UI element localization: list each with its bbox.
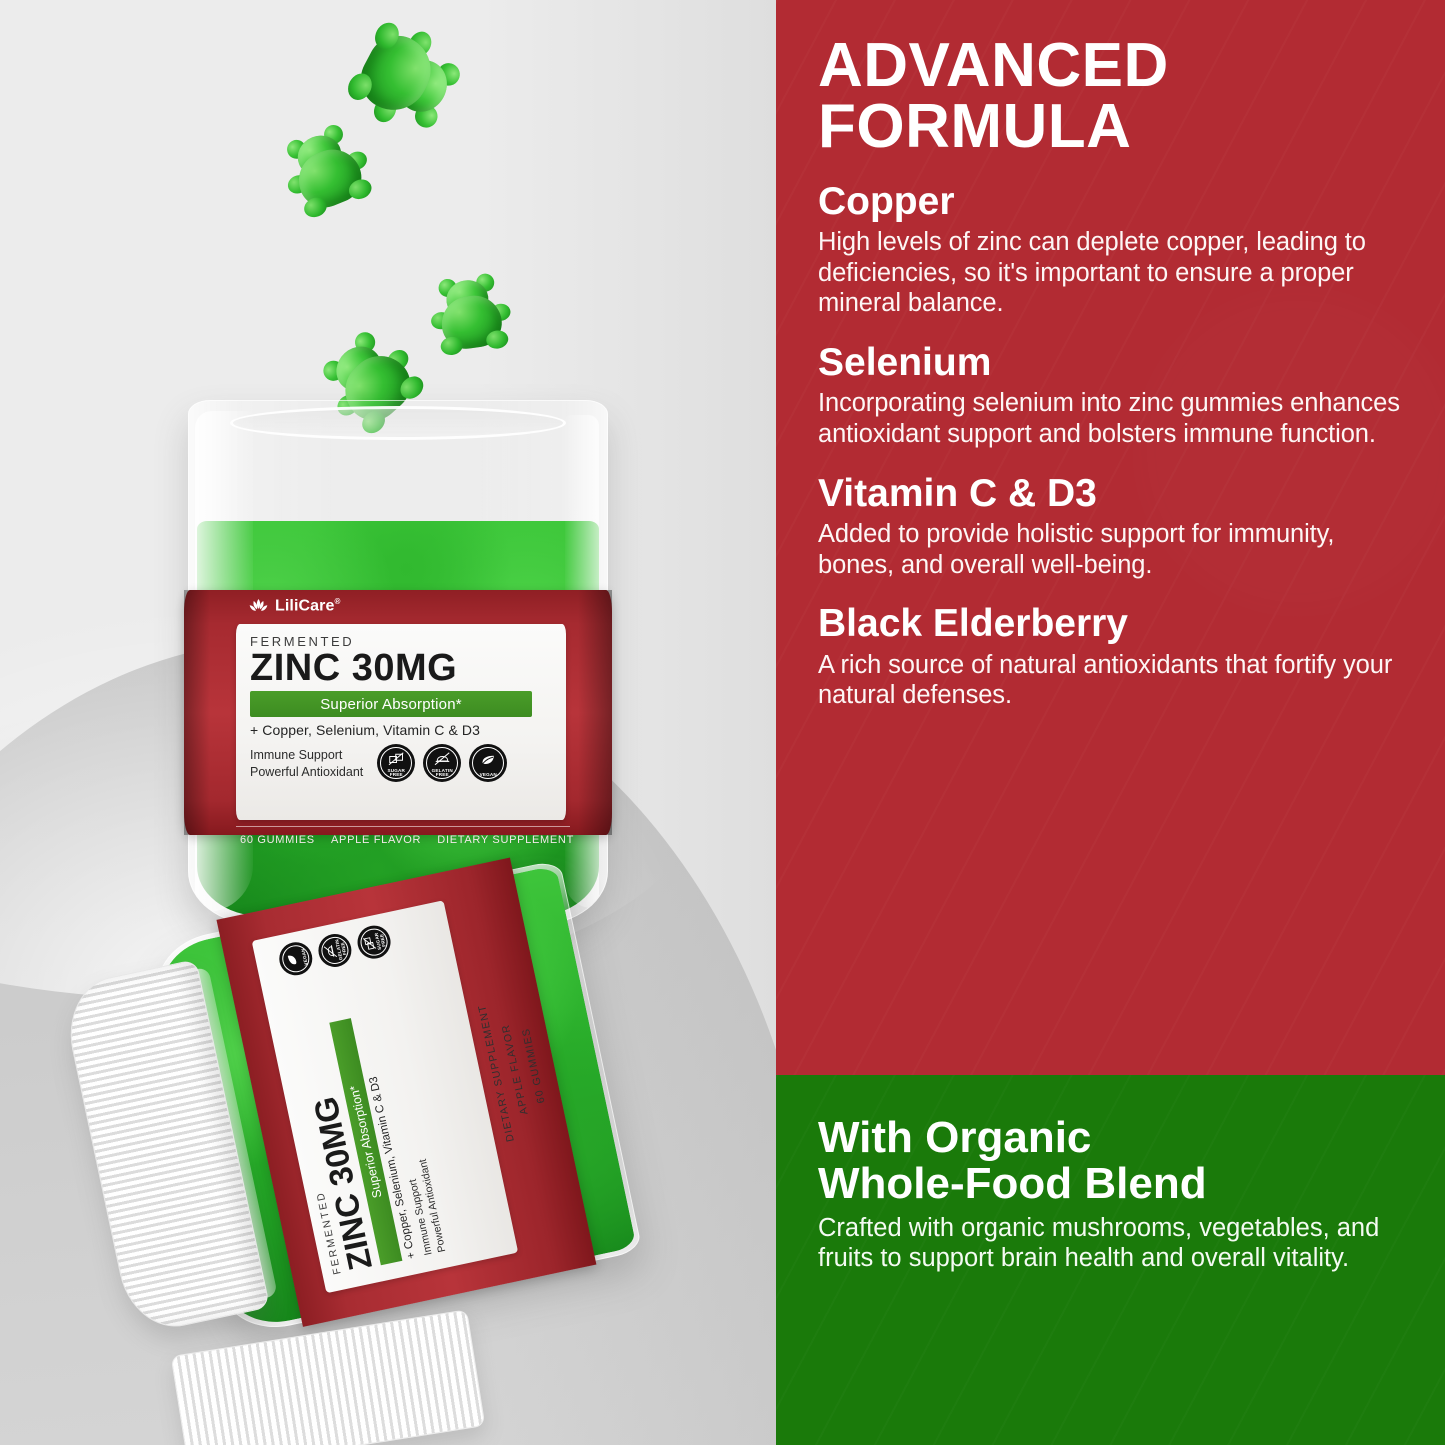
leaf-icon [479,752,498,767]
sugar-free-icon: SUGARFREE [354,923,393,962]
gelatin-free-icon: GELATINFREE [315,931,354,970]
section-body: A rich source of natural antioxidants th… [818,650,1411,711]
vegan-leaf-icon: VEGAN [276,939,315,978]
label-ingredients: + Copper, Selenium, Vitamin C & D3 [250,722,552,738]
certification-badges: SUGARFREE [377,744,507,782]
label-info-card: FERMENTED ZINC 30MG Superior Absorption*… [236,624,566,820]
section-heading: Black Elderberry [818,604,1411,645]
advanced-formula-panel: ADVANCED FORMULA Copper High levels of z… [776,0,1445,1075]
product-photo: LiliCare® FERMENTED ZINC 30MG Superior A… [0,0,776,1445]
section-heading: With Organic Whole-Food Blend [818,1115,1411,1207]
badge-label: GELATINFREE [423,769,461,779]
section-body: Incorporating selenium into zinc gummies… [818,388,1411,449]
badge-label: VEGAN [469,773,507,778]
vegan-leaf-icon: VEGAN [469,744,507,782]
sugar-free-icon: SUGARFREE [377,744,415,782]
label-product-name: ZINC 30MG [250,650,552,687]
sugar-cube-icon [387,752,406,767]
product-label-front: LiliCare® FERMENTED ZINC 30MG Superior A… [184,590,612,835]
gelatin-free-icon: GELATINFREE [423,744,461,782]
ingredient-section-copper: Copper High levels of zinc can deplete c… [818,182,1411,319]
lotus-logo-icon [248,598,269,615]
section-body: High levels of zinc can deplete copper, … [818,227,1411,319]
gummy-bear-icon [265,111,391,237]
badge-label: SUGARFREE [377,769,415,779]
product-jar-upright: LiliCare® FERMENTED ZINC 30MG Superior A… [188,400,608,925]
infographic-page: LiliCare® FERMENTED ZINC 30MG Superior A… [0,0,1445,1445]
section-heading: Vitamin C & D3 [818,474,1411,515]
organic-blend-section: With Organic Whole-Food Blend Crafted wi… [818,1115,1411,1274]
label-tagline-bar: Superior Absorption* [250,691,532,717]
brand-name: LiliCare® [275,597,341,615]
section-body: Crafted with organic mushrooms, vegetabl… [818,1213,1411,1274]
ingredient-section-selenium: Selenium Incorporating selenium into zin… [818,343,1411,450]
gelatin-mold-icon [433,752,452,767]
label-tagline: Superior Absorption* [320,696,462,713]
label-divider [236,826,570,827]
organic-blend-panel: With Organic Whole-Food Blend Crafted wi… [776,1075,1445,1445]
label-footer: 60 GUMMIES APPLE FLAVOR DIETARY SUPPLEME… [240,834,574,846]
brand-lockup: LiliCare® [248,597,341,615]
gummy-bear-icon [419,266,523,370]
section-body: Added to provide holistic support for im… [818,519,1411,580]
label-flavor: APPLE FLAVOR [331,834,421,846]
section-heading: Copper [818,182,1411,223]
label-category: DIETARY SUPPLEMENT [437,834,574,846]
label-benefits: Immune Support Powerful Antioxidant [250,744,363,780]
jar-rim [230,406,566,440]
section-heading: Selenium [818,343,1411,384]
ingredient-section-black-elderberry: Black Elderberry A rich source of natura… [818,604,1411,711]
label-count: 60 GUMMIES [240,834,315,846]
ingredient-section-vitamin-c-d3: Vitamin C & D3 Added to provide holistic… [818,474,1411,581]
panel-title: ADVANCED FORMULA [818,36,1411,158]
